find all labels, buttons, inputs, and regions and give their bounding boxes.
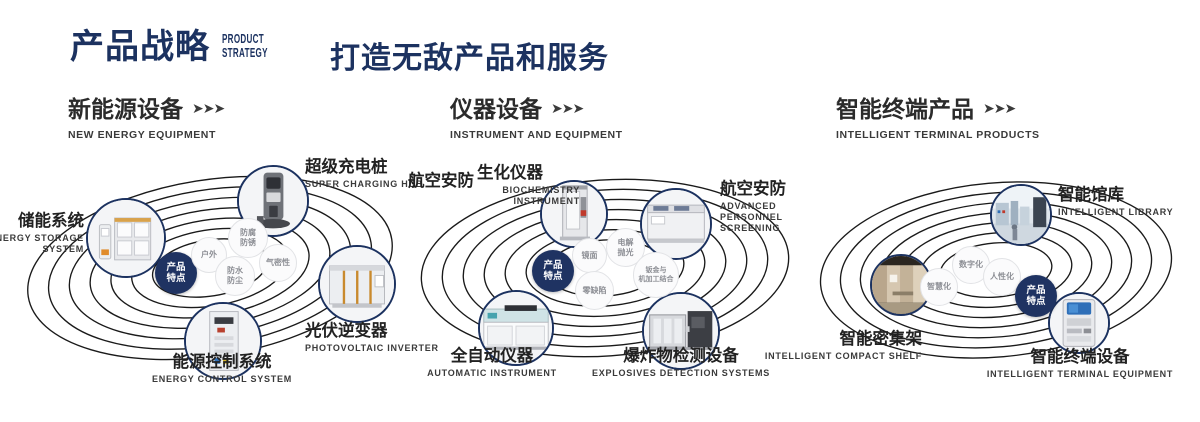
- cluster-instrument: 航空安防 生化仪器 BIOCHEMISTRY INSTRUMENT 航空安防: [400, 150, 820, 410]
- caption-cn: 储能系统: [0, 212, 84, 231]
- page-header: 产品战略 PRODUCT STRATEGY 打造无敌产品和服务: [0, 0, 1200, 86]
- section-heading-new-energy: 新能源设备➤➤➤ NEW ENERGY EQUIPMENT: [68, 95, 224, 141]
- caption-energy-control-system: 能源控制系统 ENERGY CONTROL SYSTEM: [102, 353, 342, 385]
- section-heading-cn: 智能终端产品➤➤➤: [836, 95, 1040, 122]
- bubble-line2: 防锈: [240, 238, 256, 248]
- bubble-line1: 镜面: [582, 251, 598, 261]
- bubble-line1: 钣金与: [639, 266, 674, 275]
- caption-en: INTELLIGENT LIBRARY: [1058, 207, 1173, 218]
- section-heading-cn-text: 智能终端产品: [836, 96, 974, 122]
- feature-bubble-waterproof-dustproof: 防水防尘: [215, 256, 255, 296]
- caption-en: BIOCHEMISTRY INSTRUMENT: [488, 185, 580, 207]
- bubble-line1: 气密性: [266, 258, 290, 268]
- node-circle-photovoltaic-inverter[interactable]: [318, 245, 396, 323]
- caption-advanced-personnel-screening: 航空安防 ADVANCED PERSONNEL SCREENING: [720, 180, 812, 234]
- bubble-line1: 防腐: [240, 228, 256, 238]
- caption-en: ENERGY CONTROL SYSTEM: [102, 374, 342, 385]
- bubble-line1: 数字化: [959, 260, 983, 270]
- section-heading-intelligent-terminal: 智能终端产品➤➤➤ INTELLIGENT TERMINAL PRODUCTS: [836, 95, 1040, 141]
- battery-cabinet-icon: [88, 200, 164, 276]
- page-title-cn: 产品战略: [70, 27, 210, 67]
- bubble-line1: 人性化: [990, 272, 1014, 282]
- section-heading-instrument: 仪器设备➤➤➤ INSTRUMENT AND EQUIPMENT: [450, 95, 623, 141]
- core-line1: 产品: [166, 262, 185, 273]
- caption-cn: 全自动仪器: [376, 347, 608, 366]
- caption-energy-storage: 储能系统 ENERGY STORAGE SYSTEM: [0, 212, 84, 255]
- page-title-en-line2: STRATEGY: [222, 46, 268, 60]
- node-circle-intelligent-terminal-equipment[interactable]: [1048, 292, 1110, 354]
- self-service-kiosk-icon: [1050, 294, 1108, 352]
- node-circle-advanced-personnel-screening[interactable]: [640, 188, 712, 260]
- feature-bubble-mirror-finish: 镜面: [572, 238, 607, 273]
- caption-biochemistry-instrument: 生化仪器 BIOCHEMISTRY INSTRUMENT: [440, 164, 580, 207]
- caption-en: INTELLIGENT TERMINAL EQUIPMENT: [968, 369, 1192, 380]
- section-heading-cn: 仪器设备➤➤➤: [450, 95, 623, 122]
- bubble-line1: 零缺陷: [583, 286, 607, 296]
- screening-machine-icon: [642, 190, 710, 258]
- bubble-line1: 智慧化: [927, 282, 951, 292]
- feature-bubble-smart: 智慧化: [920, 268, 958, 306]
- section-heading-cn: 新能源设备➤➤➤: [68, 95, 224, 122]
- feature-bubble-zero-defect: 零缺陷: [575, 271, 614, 310]
- caption-cn: 能源控制系统: [102, 353, 342, 372]
- bubble-line2: 抛光: [618, 248, 634, 258]
- feature-core-product-characteristics: 产品特点: [1015, 275, 1057, 317]
- chevron-right-triple-icon: ➤➤➤: [192, 95, 224, 121]
- caption-intelligent-terminal-equipment: 智能终端设备 INTELLIGENT TERMINAL EQUIPMENT: [968, 348, 1192, 380]
- core-line1: 产品: [1026, 285, 1045, 296]
- node-circle-intelligent-library[interactable]: [990, 184, 1052, 246]
- caption-automatic-instrument: 全自动仪器 AUTOMATIC INSTRUMENT: [376, 347, 608, 379]
- section-heading-en: INSTRUMENT AND EQUIPMENT: [450, 129, 623, 141]
- library-room-icon: [992, 186, 1050, 244]
- caption-cn: 智能终端设备: [968, 348, 1192, 367]
- bubble-line1: 户外: [201, 250, 217, 260]
- caption-cn: 航空安防: [720, 180, 812, 199]
- feature-bubble-sheetmetal-machining: 钣金与机加工结合: [633, 252, 679, 298]
- core-line2: 特点: [1026, 296, 1045, 307]
- cluster-new-energy: 储能系统 ENERGY STORAGE SYSTEM 超级充电桩 SUPER C…: [0, 150, 420, 410]
- section-heading-en: INTELLIGENT TERMINAL PRODUCTS: [836, 129, 1040, 141]
- caption-en: INTELLIGENT COMPACT SHELF: [762, 351, 922, 362]
- bubble-line2: 防尘: [227, 276, 243, 286]
- section-heading-cn-text: 新能源设备: [68, 96, 183, 122]
- caption-cn: 智能密集架: [762, 330, 922, 349]
- caption-en: ADVANCED PERSONNEL SCREENING: [720, 201, 812, 234]
- node-circle-energy-storage[interactable]: [86, 198, 166, 278]
- page-title-en-line1: PRODUCT: [222, 32, 268, 46]
- bubble-line1: 电解: [618, 238, 634, 248]
- caption-en: ENERGY STORAGE SYSTEM: [0, 233, 84, 255]
- bubble-line1: 防水: [227, 266, 243, 276]
- page-title-en: PRODUCT STRATEGY: [222, 32, 268, 60]
- feature-bubble-airtightness: 气密性: [259, 244, 297, 282]
- cluster-intelligent-terminal: 智能馆库 INTELLIGENT LIBRARY 智能终端设备 INTELLIG…: [800, 150, 1200, 410]
- caption-en: AUTOMATIC INSTRUMENT: [376, 368, 608, 379]
- caption-cn: 智能馆库: [1058, 186, 1173, 205]
- inverter-cabinet-icon: [320, 247, 394, 321]
- chevron-right-triple-icon: ➤➤➤: [551, 95, 583, 121]
- caption-intelligent-library: 智能馆库 INTELLIGENT LIBRARY: [1058, 186, 1173, 218]
- page-slogan: 打造无敌产品和服务: [330, 33, 609, 77]
- chevron-right-triple-icon: ➤➤➤: [983, 95, 1015, 121]
- core-line2: 特点: [543, 271, 562, 282]
- section-heading-en: NEW ENERGY EQUIPMENT: [68, 129, 224, 141]
- section-heading-cn-text: 仪器设备: [450, 96, 542, 122]
- bubble-line2: 机加工结合: [639, 275, 674, 284]
- caption-intelligent-compact-shelf: 智能密集架 INTELLIGENT COMPACT SHELF: [762, 330, 922, 362]
- caption-cn: 生化仪器: [440, 164, 580, 183]
- core-line2: 特点: [166, 273, 185, 284]
- feature-core-product-characteristics: 产品特点: [532, 250, 574, 292]
- core-line1: 产品: [543, 260, 562, 271]
